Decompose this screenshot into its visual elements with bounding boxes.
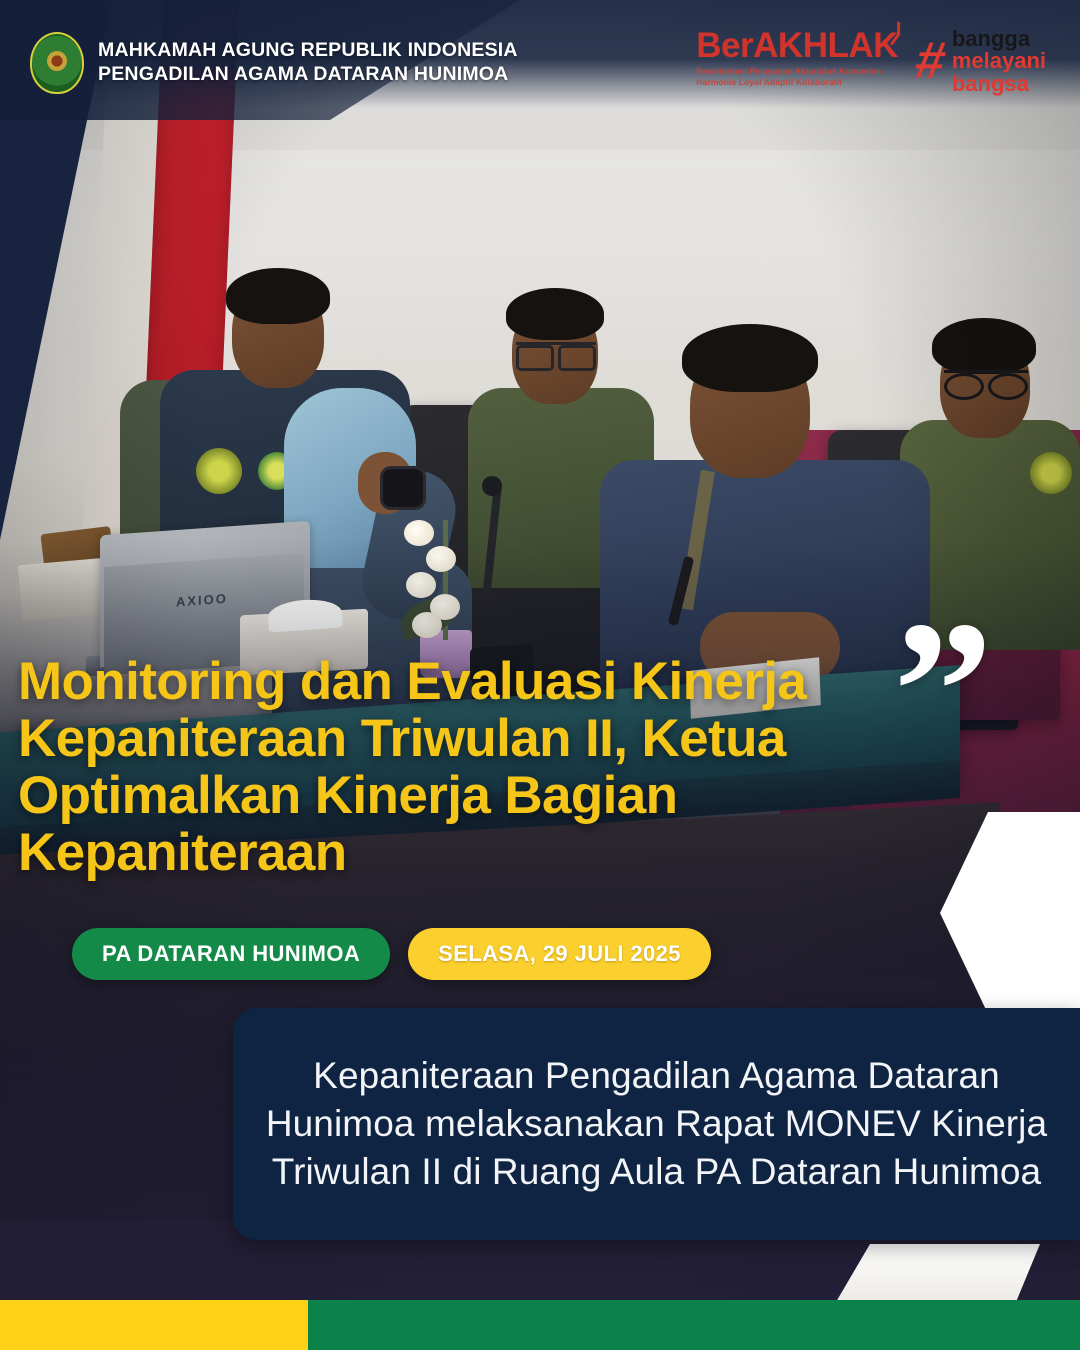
berakhlak-values-line-2: Harmonis Loyal Adaptif Kolaboratif <box>696 77 898 88</box>
berakhlak-mark: BerAKHLAK ⟩ Berorientasi Pelayanan Akunt… <box>696 28 898 88</box>
brand-lockup: MAHKAMAH AGUNG REPUBLIK INDONESIA PENGAD… <box>30 32 518 94</box>
berakhlak-values-line-1: Berorientasi Pelayanan Akuntabel Kompete… <box>696 66 898 77</box>
berakhlak-logo-lockup: BerAKHLAK ⟩ Berorientasi Pelayanan Akunt… <box>696 28 1046 95</box>
mahkamah-agung-seal-icon <box>30 32 84 94</box>
status-badge-date: SELASA, 29 JULI 2025 <box>408 928 711 980</box>
bangga-melayani-bangsa-logo: # bangga melayani bangsa <box>916 28 1046 95</box>
berakhlak-wordmark: BerAKHLAK <box>696 28 898 63</box>
page-title: Monitoring dan Evaluasi Kinerja Kepanite… <box>18 654 1018 882</box>
strip-segment-yellow <box>0 1300 308 1350</box>
organization-title: MAHKAMAH AGUNG REPUBLIK INDONESIA PENGAD… <box>98 39 518 87</box>
bottom-white-trapezoid <box>836 1244 1040 1302</box>
berakhlak-values: Berorientasi Pelayanan Akuntabel Kompete… <box>696 66 898 88</box>
bottom-color-strip <box>0 1300 1080 1350</box>
tagline-line-2: melayani <box>952 50 1046 72</box>
org-line-1: MAHKAMAH AGUNG REPUBLIK INDONESIA <box>98 39 518 63</box>
bangga-tagline: bangga melayani bangsa <box>952 28 1046 95</box>
tagline-line-1: bangga <box>952 28 1046 50</box>
caption-panel: Kepaniteraan Pengadilan Agama Dataran Hu… <box>233 1008 1080 1240</box>
hashtag-icon: # <box>912 41 948 83</box>
strip-segment-green <box>308 1300 1080 1350</box>
poster-canvas: AXIOO MAHKAMAH AGUNG REPUBLIK INDONESIA … <box>0 0 1080 1350</box>
caption-text: Kepaniteraan Pengadilan Agama Dataran Hu… <box>233 1052 1080 1196</box>
org-line-2: PENGADILAN AGAMA DATARAN HUNIMOA <box>98 63 518 87</box>
tagline-line-3: bangsa <box>952 73 1046 95</box>
badge-row: PA DATARAN HUNIMOA SELASA, 29 JULI 2025 <box>72 928 711 980</box>
status-badge-institution: PA DATARAN HUNIMOA <box>72 928 390 980</box>
